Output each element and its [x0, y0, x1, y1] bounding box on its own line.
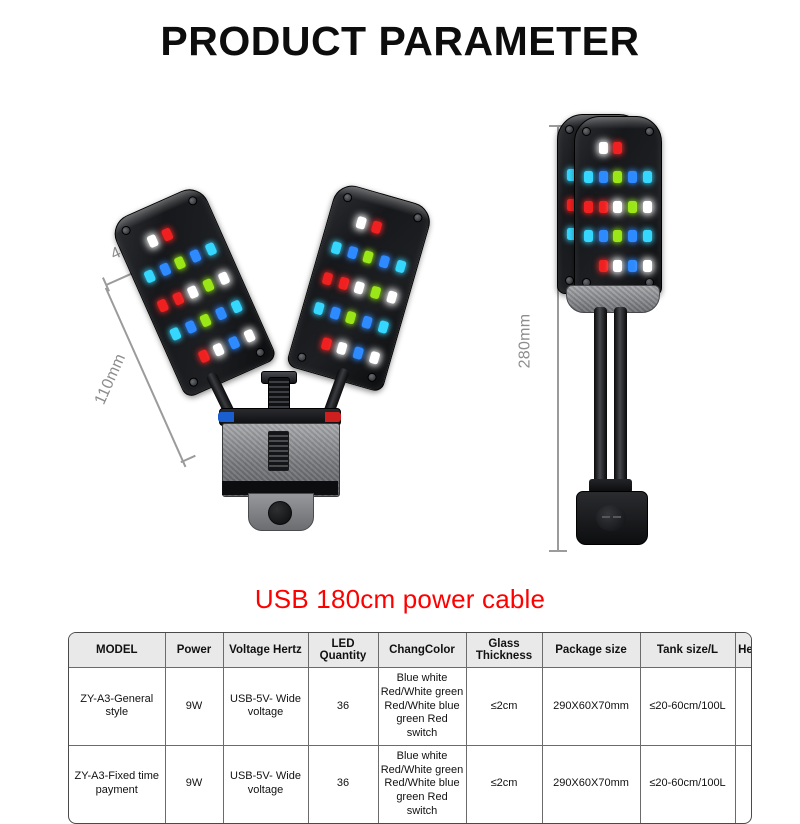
led-cyan [313, 302, 325, 316]
led-green [370, 286, 382, 300]
led-green [200, 313, 213, 328]
led-white [613, 260, 622, 272]
led-red [613, 142, 622, 154]
led-off [304, 332, 316, 346]
led-white [643, 260, 652, 272]
led-blue [599, 230, 608, 242]
clamp-accent-red [325, 412, 341, 422]
table-row: ZY-A3-General style 9W USB-5V- Wide volt… [69, 668, 752, 746]
led-red [321, 272, 333, 286]
cell-led-quantity: 36 [308, 745, 378, 822]
led-blue [628, 260, 637, 272]
column-header-model: MODEL [69, 633, 165, 668]
cell-power: 9W [165, 668, 223, 746]
led-white [355, 216, 367, 230]
table-header-row: MODEL Power Voltage Hertz LED Quantity C… [69, 633, 752, 668]
column-header-power: Power [165, 633, 223, 668]
led-blue [628, 171, 637, 183]
gooseneck-joint [566, 285, 660, 313]
led-grid [297, 200, 421, 375]
led-panel-front [574, 116, 662, 296]
led-red [161, 227, 174, 242]
table-row: ZY-A3-Fixed time payment 9W USB-5V- Wide… [69, 745, 752, 822]
led-green [613, 171, 622, 183]
led-cyan [230, 300, 243, 315]
led-white [613, 201, 622, 213]
cell-glass-thickness: ≤2cm [466, 668, 542, 746]
led-panel-left [108, 183, 277, 399]
column-header-tank: Tank size/L [640, 633, 735, 668]
gooseneck-tube-left [594, 307, 607, 485]
cell-power: 9W [165, 745, 223, 822]
dimension-label-total-height: 280mm [516, 314, 534, 369]
spec-table-container: MODEL Power Voltage Hertz LED Quantity C… [68, 632, 752, 824]
cell-led-quantity: 36 [308, 668, 378, 746]
led-blue [379, 255, 391, 269]
gooseneck-tube-right [614, 307, 627, 485]
led-red [320, 337, 332, 351]
led-white [336, 342, 348, 356]
led-white [187, 285, 200, 300]
led-white [369, 351, 381, 365]
cell-tank-size: ≤20-60cm/100L [640, 745, 735, 822]
led-green [202, 278, 215, 293]
led-off [584, 260, 593, 272]
led-green [362, 251, 374, 265]
led-white [643, 201, 652, 213]
column-header-heavy: Heavy vlume [735, 633, 752, 668]
cell-voltage: USB-5V- Wide voltage [223, 745, 308, 822]
led-cyan [143, 269, 156, 284]
led-off [339, 211, 351, 225]
cell-model: ZY-A3-Fixed time payment [69, 745, 165, 822]
led-panel-right [285, 181, 434, 393]
led-grid [581, 133, 655, 281]
clip-knob [596, 505, 626, 531]
dimension-cap-total-bottom [549, 550, 567, 552]
led-green [613, 230, 622, 242]
column-header-changcolor: ChangColor [378, 633, 466, 668]
cell-chang-color: Blue white Red/White green Red/White blu… [378, 745, 466, 822]
cell-package-size: 290X60X70mm [542, 668, 640, 746]
led-white [146, 234, 159, 249]
led-white [386, 290, 398, 304]
led-grid [123, 203, 264, 381]
led-red [584, 201, 593, 213]
led-blue [628, 230, 637, 242]
led-blue [189, 249, 202, 264]
cell-tank-size: ≤20-60cm/100L [640, 668, 735, 746]
led-red [197, 349, 210, 364]
led-cyan [330, 241, 342, 255]
column-header-glass: Glass Thickness [466, 633, 542, 668]
cell-model: ZY-A3-General style [69, 668, 165, 746]
led-red [371, 220, 383, 234]
led-red [338, 276, 350, 290]
led-red [599, 201, 608, 213]
led-white [354, 281, 366, 295]
led-red [599, 260, 608, 272]
led-green [174, 256, 187, 271]
led-cyan [643, 230, 652, 242]
clip-knob-slot [602, 516, 610, 518]
clamp-foot-knob [268, 501, 292, 525]
led-blue [353, 346, 365, 360]
dimension-label-height: 110mm [92, 351, 130, 407]
led-white [599, 142, 608, 154]
column-header-led-qty: LED Quantity [308, 633, 378, 668]
led-white [212, 342, 225, 357]
led-red [171, 291, 184, 306]
cell-heavy-vlume: 210g [735, 668, 752, 746]
led-green [628, 201, 637, 213]
led-off [628, 142, 637, 154]
usb-cable-caption: USB 180cm power cable [0, 584, 800, 615]
led-cyan [169, 327, 182, 342]
led-blue [159, 263, 172, 278]
led-blue [599, 171, 608, 183]
clip-knob-slot [613, 516, 621, 518]
led-white [243, 328, 256, 343]
led-blue [215, 307, 228, 322]
clamp-accent-blue [218, 412, 234, 422]
led-cyan [377, 321, 389, 335]
led-blue [184, 320, 197, 335]
led-cyan [584, 171, 593, 183]
led-cyan [395, 260, 407, 274]
led-off [387, 225, 399, 239]
led-blue [329, 307, 341, 321]
led-off [130, 241, 143, 256]
spec-table: MODEL Power Voltage Hertz LED Quantity C… [69, 633, 752, 823]
column-header-voltage: Voltage Hertz [223, 633, 308, 668]
page-title: PRODUCT PARAMETER [0, 18, 800, 65]
led-green [345, 311, 357, 325]
cell-package-size: 290X60X70mm [542, 745, 640, 822]
led-off [192, 213, 205, 228]
cell-glass-thickness: ≤2cm [466, 745, 542, 822]
led-off [182, 356, 195, 371]
cell-chang-color: Blue white Red/White green Red/White blu… [378, 668, 466, 746]
cell-heavy-vlume: 210g [735, 745, 752, 822]
led-blue [228, 335, 241, 350]
led-cyan [205, 242, 218, 257]
clamp-inner-screw [268, 431, 289, 471]
led-off [643, 142, 652, 154]
led-cyan [643, 171, 652, 183]
led-off [404, 230, 416, 244]
product-illustration-stage: 40mm 110mm 280mm [0, 95, 800, 565]
led-red [156, 298, 169, 313]
led-blue [361, 316, 373, 330]
led-off [177, 220, 190, 235]
led-white [218, 271, 231, 286]
column-header-package: Package size [542, 633, 640, 668]
led-off [584, 142, 593, 154]
led-blue [346, 246, 358, 260]
led-cyan [584, 230, 593, 242]
cell-voltage: USB-5V- Wide voltage [223, 668, 308, 746]
